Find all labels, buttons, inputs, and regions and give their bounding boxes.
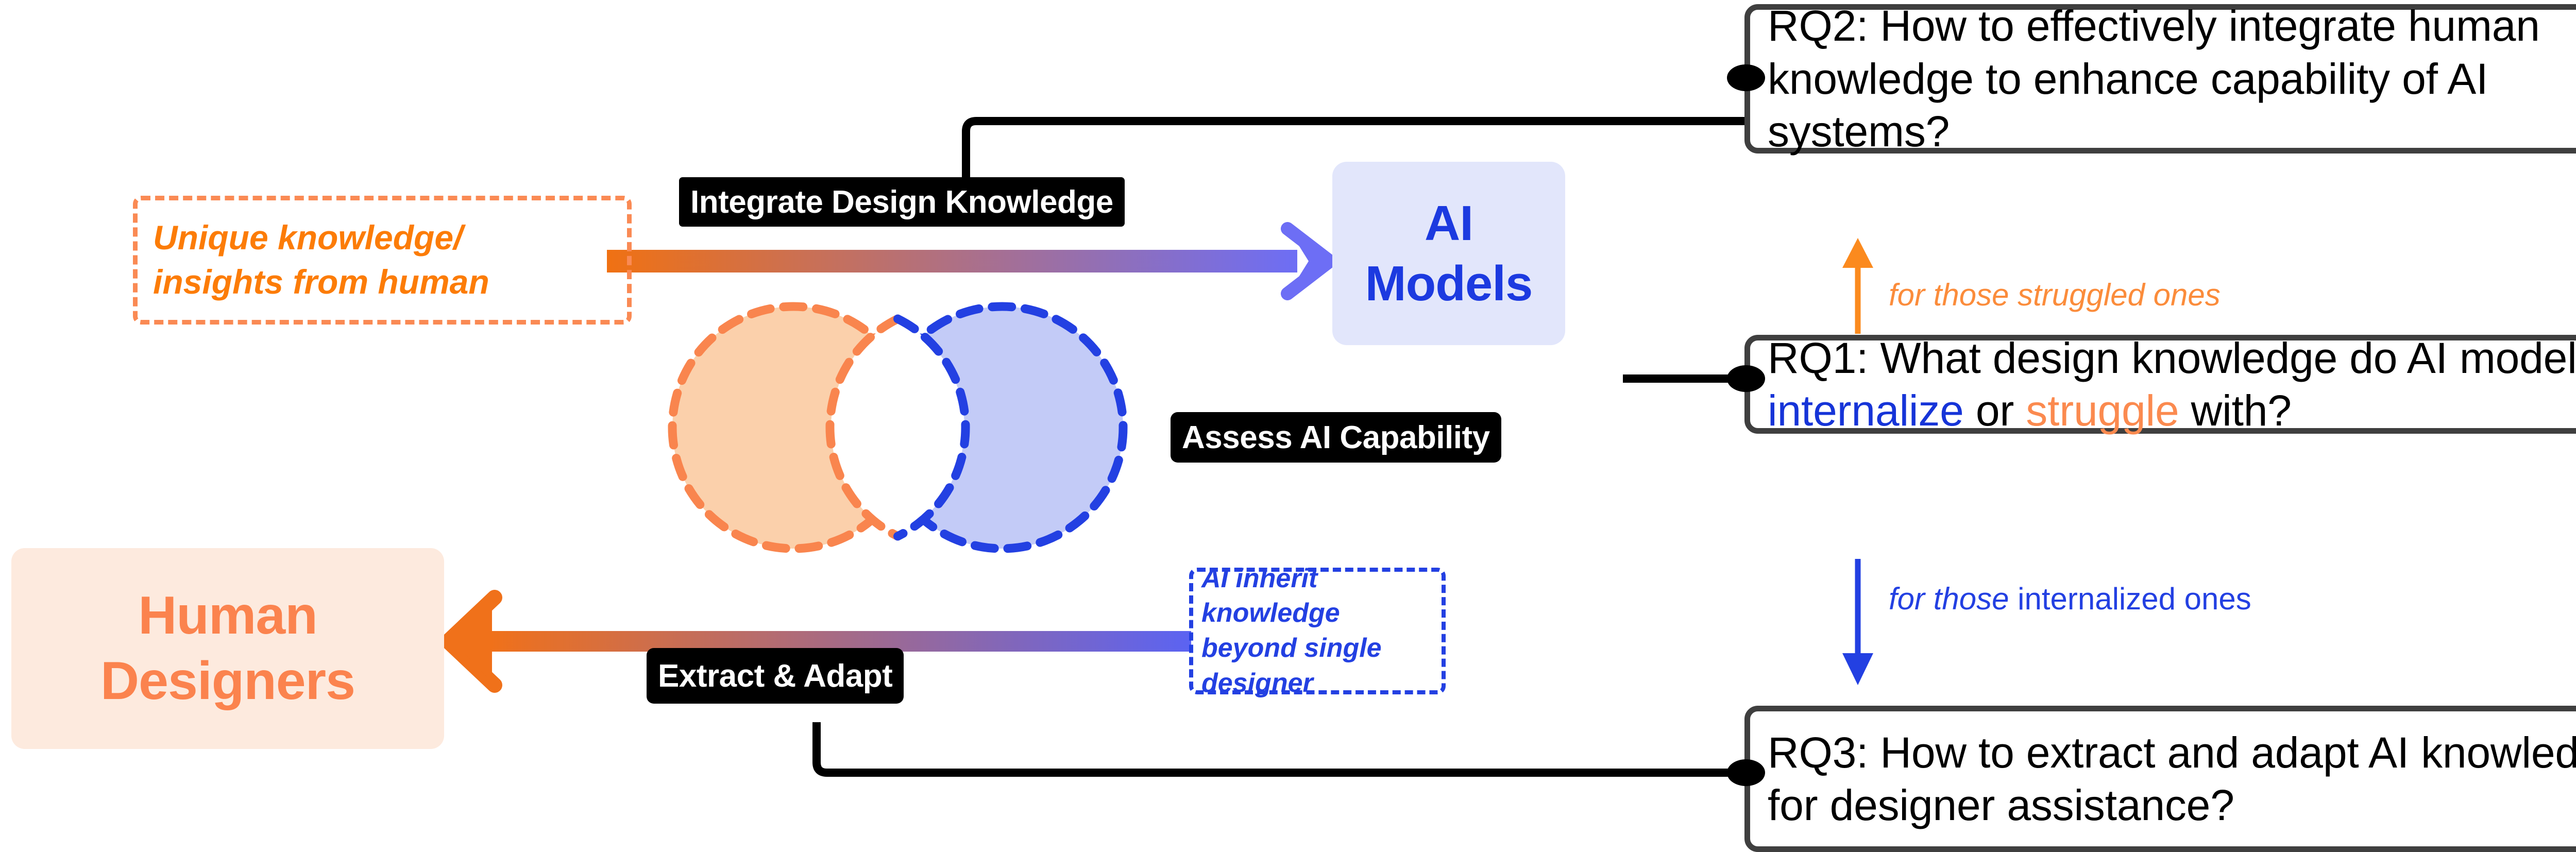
rq1-keyword-internalize: internalize — [1768, 386, 1964, 435]
connector-dot-rq2 — [1727, 64, 1765, 91]
connector-dot-rq1 — [1727, 365, 1765, 392]
ai-models-line2: Models — [1365, 253, 1533, 314]
annotation-internalized-italic: for those — [1889, 582, 2018, 616]
arrow-integrate-to-ai — [607, 228, 1332, 294]
label-integrate-design-knowledge[interactable]: Integrate Design Knowledge — [679, 177, 1125, 227]
rq3-text: RQ3: How to extract and adapt AI knowled… — [1768, 726, 2576, 832]
rq1-part1: RQ1: What design knowledge do AI models — [1768, 334, 2576, 382]
label-integrate-text: Integrate Design Knowledge — [690, 184, 1113, 220]
rq1-part2: or — [1964, 386, 2026, 435]
ai-models-line1: AI — [1425, 193, 1473, 253]
venn-circle-human — [672, 306, 914, 549]
rq1-keyword-struggle: struggle — [2026, 386, 2179, 435]
label-extract-and-adapt[interactable]: Extract & Adapt — [647, 648, 904, 704]
label-assess-text: Assess AI Capability — [1182, 419, 1490, 456]
arrow-rq1-to-rq3 — [1842, 559, 1873, 685]
annotation-struggled-ones: for those struggled ones — [1889, 277, 2221, 313]
arrow-rq1-to-rq2 — [1842, 238, 1873, 334]
human-designers-line1: Human — [138, 583, 317, 649]
label-assess-ai-capability[interactable]: Assess AI Capability — [1171, 412, 1501, 463]
venn-circle-ai — [881, 306, 1123, 549]
venn-diagram — [672, 306, 1123, 549]
venn-arc-human-inner — [830, 319, 898, 536]
rq1-text: RQ1: What design knowledge do AI models … — [1768, 332, 2576, 437]
callout-inherit-line2: beyond single designer — [1201, 631, 1442, 701]
question-box-rq1[interactable]: RQ1: What design knowledge do AI models … — [1744, 335, 2576, 434]
label-extract-text: Extract & Adapt — [658, 658, 892, 694]
callout-unique-knowledge: Unique knowledge/ insights from human — [133, 196, 632, 325]
diagram-canvas: Unique knowledge/ insights from human AI… — [0, 0, 2576, 843]
callout-unique-line2: insights from human — [153, 260, 627, 304]
rq2-text: RQ2: How to effectively integrate human … — [1768, 0, 2576, 158]
question-box-rq3[interactable]: RQ3: How to extract and adapt AI knowled… — [1744, 706, 2576, 852]
annotation-internalized-ones: for those internalized ones — [1889, 581, 2251, 617]
callout-ai-inherit: AI inherit knowledge beyond single desig… — [1189, 568, 1446, 694]
venn-intersection — [831, 319, 964, 536]
callout-unique-line1: Unique knowledge/ — [153, 216, 627, 260]
rq1-part3: with? — [2179, 386, 2292, 435]
connector-dot-rq3 — [1727, 759, 1765, 786]
node-ai-models[interactable]: AI Models — [1332, 162, 1565, 345]
question-box-rq2[interactable]: RQ2: How to effectively integrate human … — [1744, 4, 2576, 154]
node-human-designers[interactable]: Human Designers — [11, 548, 444, 749]
human-designers-line2: Designers — [100, 649, 355, 714]
annotation-struggled-text: for those struggled ones — [1889, 278, 2221, 312]
connector-extract-rq3 — [817, 726, 1744, 773]
venn-arc-ai-inner — [898, 319, 966, 536]
annotation-internalized-rest: internalized ones — [2018, 582, 2251, 616]
callout-inherit-line1: AI inherit knowledge — [1201, 561, 1442, 631]
